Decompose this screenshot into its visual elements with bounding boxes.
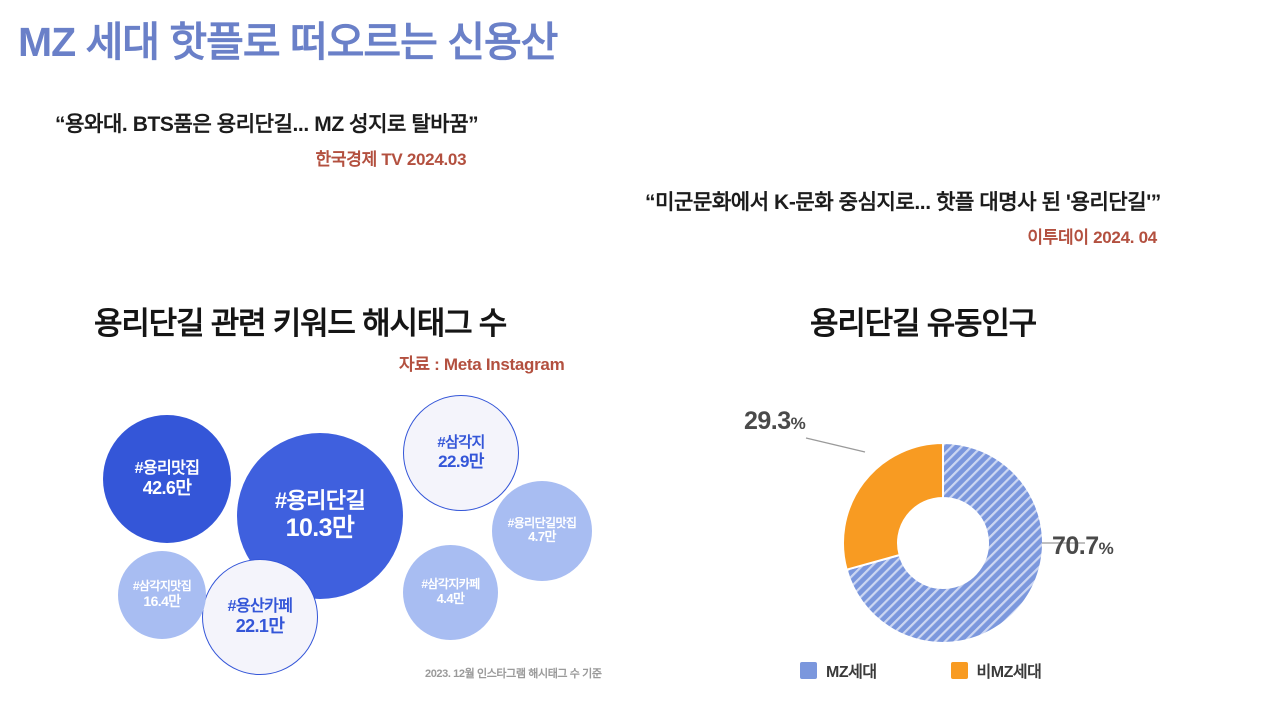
hashtag-bubble-tag: #용리맛집 — [135, 460, 200, 478]
hashtag-bubble-tag: #삼각지카페 — [421, 578, 479, 592]
news-quote-1: “용와대. BTS품은 용리단길... MZ 성지로 탈바꿈” 한국경제 TV … — [55, 108, 478, 170]
donut-label-non-mz-value: 29.3 — [744, 407, 791, 435]
donut-label-mz-unit: % — [1099, 539, 1114, 558]
news-quote-1-source: 한국경제 TV 2024.03 — [55, 145, 478, 170]
hashtag-bubble: #삼각지22.9만 — [403, 395, 519, 511]
hashtag-bubble-value: 16.4만 — [143, 594, 180, 610]
donut-label-mz: 70.7% — [1052, 532, 1113, 561]
hashtag-bubble-tag: #삼각지 — [437, 435, 484, 452]
donut-label-mz-value: 70.7 — [1052, 532, 1099, 560]
donut-label-non-mz: 29.3% — [744, 407, 805, 436]
legend-swatch-icon — [951, 662, 968, 679]
donut-slice — [843, 443, 943, 570]
hashtag-bubble-value: 22.1만 — [236, 616, 285, 636]
slide-canvas: MZ 세대 핫플로 떠오르는 신용산 “용와대. BTS품은 용리단길... M… — [0, 0, 1267, 702]
legend-swatch-icon — [800, 662, 817, 679]
news-quote-2-source: 이투데이 2024. 04 — [645, 223, 1161, 248]
hashtag-bubble-chart: #용리맛집42.6만#용리단길10.3만#삼각지22.9만#용산카페22.1만#… — [85, 385, 620, 685]
donut-slices — [843, 443, 1043, 643]
footfall-donut-chart: 29.3% 70.7% — [700, 380, 1130, 650]
hashtag-bubble: #삼각지맛집16.4만 — [118, 551, 206, 639]
news-quote-2: “미군문화에서 K-문화 중심지로... 핫플 대명사 된 '용리단길'” 이투… — [645, 186, 1161, 248]
hashtag-bubble-value: 4.4만 — [437, 592, 465, 607]
hashtag-bubble-value: 10.3만 — [286, 514, 355, 542]
hashtag-bubble: #용리단길맛집4.7만 — [492, 481, 592, 581]
hashtag-chart-source: 자료 : Meta Instagram — [399, 350, 564, 375]
hashtag-bubble: #삼각지카페4.4만 — [403, 545, 498, 640]
news-quote-2-text: “미군문화에서 K-문화 중심지로... 핫플 대명사 된 '용리단길'” — [645, 191, 1161, 214]
news-quote-1-text: “용와대. BTS품은 용리단길... MZ 성지로 탈바꿈” — [55, 113, 478, 136]
hashtag-bubble-tag: #용리단길맛집 — [508, 517, 577, 531]
hashtag-bubble-tag: #용리단길 — [275, 489, 365, 514]
donut-legend-item: 비MZ세대 — [951, 658, 1042, 682]
hashtag-bubble-tag: #삼각지맛집 — [133, 580, 191, 594]
donut-legend-label: MZ세대 — [826, 658, 877, 682]
donut-label-non-mz-unit: % — [791, 414, 806, 433]
page-title: MZ 세대 핫플로 떠오르는 신용산 — [18, 8, 557, 68]
hashtag-bubble-value: 4.7만 — [528, 530, 556, 545]
donut-legend-label: 비MZ세대 — [977, 658, 1042, 682]
footfall-chart-title: 용리단길 유동인구 — [810, 298, 1036, 343]
donut-legend: MZ세대비MZ세대 — [800, 658, 1041, 682]
hashtag-bubble: #용산카페22.1만 — [202, 559, 318, 675]
hashtag-chart-title: 용리단길 관련 키워드 해시태그 수 — [94, 298, 506, 343]
hashtag-bubble-tag: #용산카페 — [228, 598, 293, 616]
hashtag-bubble-value: 42.6만 — [143, 478, 192, 498]
hashtag-bubble-value: 22.9만 — [438, 452, 484, 471]
hashtag-chart-footnote: 2023. 12월 인스타그램 해시태그 수 기준 — [425, 665, 602, 681]
hashtag-bubble: #용리맛집42.6만 — [103, 415, 231, 543]
donut-legend-item: MZ세대 — [800, 658, 877, 682]
